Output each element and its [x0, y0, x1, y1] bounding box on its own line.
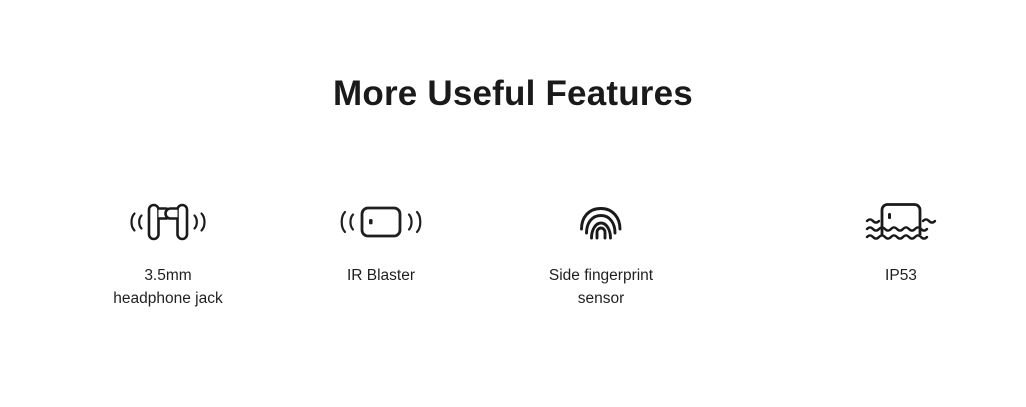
feature-label-fingerprint: Side fingerprint sensor	[549, 264, 653, 310]
feature-label-headphone-jack: 3.5mm headphone jack	[113, 264, 222, 310]
water-resistance-icon	[865, 196, 937, 248]
fingerprint-icon	[577, 196, 625, 248]
more-useful-features-section: More Useful Features	[0, 0, 1026, 407]
feature-item-fingerprint: Side fingerprint sensor	[426, 196, 776, 310]
features-list: 3.5mm headphone jack IR Blaster	[0, 196, 1026, 310]
feature-item-ir-blaster: IR Blaster	[336, 196, 426, 287]
page-title: More Useful Features	[0, 72, 1026, 116]
feature-item-ip-rating: IP53	[776, 196, 1026, 287]
feature-label-ip-rating: IP53	[885, 264, 917, 287]
earbuds-icon	[116, 196, 220, 248]
ir-blaster-icon	[335, 196, 427, 248]
feature-item-headphone-jack: 3.5mm headphone jack	[0, 196, 336, 310]
feature-label-ir-blaster: IR Blaster	[347, 264, 415, 287]
